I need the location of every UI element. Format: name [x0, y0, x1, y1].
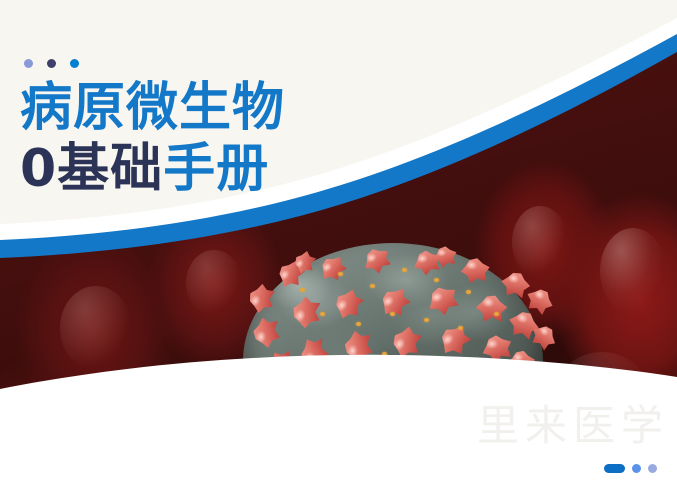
membrane-dot [494, 312, 499, 316]
page-title: 病原微生物 0基础手册 [20, 82, 285, 195]
pagination-dot-2[interactable] [632, 464, 641, 473]
membrane-dot [300, 288, 305, 292]
title-line-1: 病原微生物 [20, 82, 285, 134]
membrane-dot [402, 268, 407, 272]
membrane-dot [434, 278, 439, 282]
membrane-dot [338, 272, 343, 276]
membrane-dot [424, 318, 429, 322]
cover-slide: 病原微生物 0基础手册 里来医学 [0, 0, 677, 491]
membrane-dot [320, 312, 325, 316]
accent-dot-navy [47, 59, 56, 68]
accent-dot-periwinkle [24, 59, 33, 68]
membrane-dot [340, 358, 345, 362]
accent-dot-row [24, 59, 79, 68]
pagination-dot-3[interactable] [648, 464, 657, 473]
membrane-dot [370, 284, 375, 288]
accent-dot-blue [70, 59, 79, 68]
brand-watermark: 里来医学 [477, 392, 669, 453]
membrane-dot [356, 322, 361, 326]
membrane-dot [458, 326, 463, 330]
membrane-dot [416, 356, 421, 360]
title-line-2-part-2: 手册 [163, 139, 269, 199]
membrane-dot [466, 290, 471, 294]
pagination-dot-1[interactable] [604, 464, 625, 473]
membrane-dot [382, 352, 387, 356]
membrane-dot [390, 312, 395, 316]
title-line-2: 0基础手册 [20, 143, 285, 195]
pagination-indicator[interactable] [604, 464, 657, 473]
title-line-2-part-1: 0基础 [20, 139, 163, 199]
